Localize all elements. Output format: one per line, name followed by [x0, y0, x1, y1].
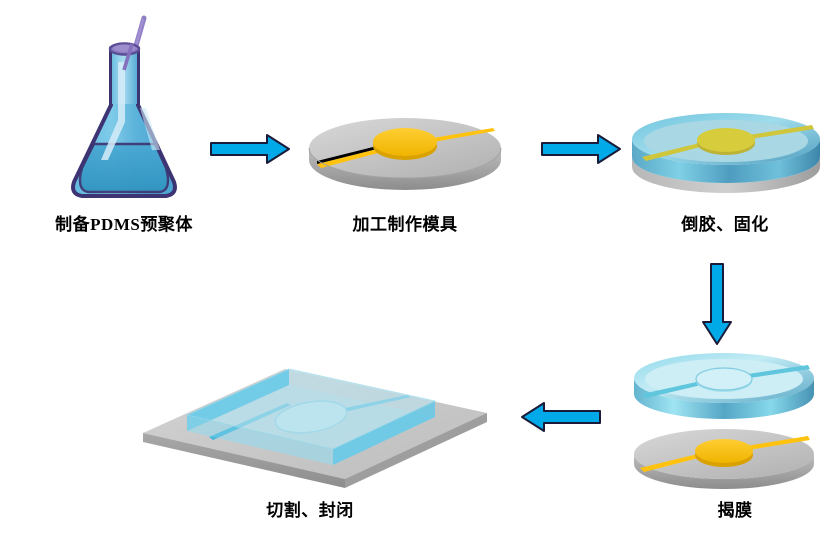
step-label-machine-mold: 加工制作模具 — [290, 210, 520, 235]
arrow-left-4 — [518, 400, 602, 434]
figure-cut-and-seal-chip — [135, 355, 495, 495]
step-label-prepare-pdms-prepolymer: 制备PDMS预聚体 — [0, 210, 248, 235]
step-label-cut-and-seal: 切割、封闭 — [180, 496, 440, 521]
figure-peel-membrane — [628, 348, 824, 493]
figure-pour-and-cure — [628, 105, 824, 197]
step-label-pour-and-cure: 倒胶、固化 — [620, 210, 830, 235]
step-label-peel-membrane: 揭膜 — [640, 496, 830, 521]
process-flow-diagram: 制备PDMS预聚体 — [0, 0, 833, 554]
arrow-right-1 — [209, 132, 293, 166]
arrow-right-2 — [540, 132, 624, 166]
figure-machine-mold — [305, 110, 505, 192]
arrow-down-3 — [700, 262, 734, 348]
figure-prepare-pdms-prepolymer — [48, 10, 208, 205]
